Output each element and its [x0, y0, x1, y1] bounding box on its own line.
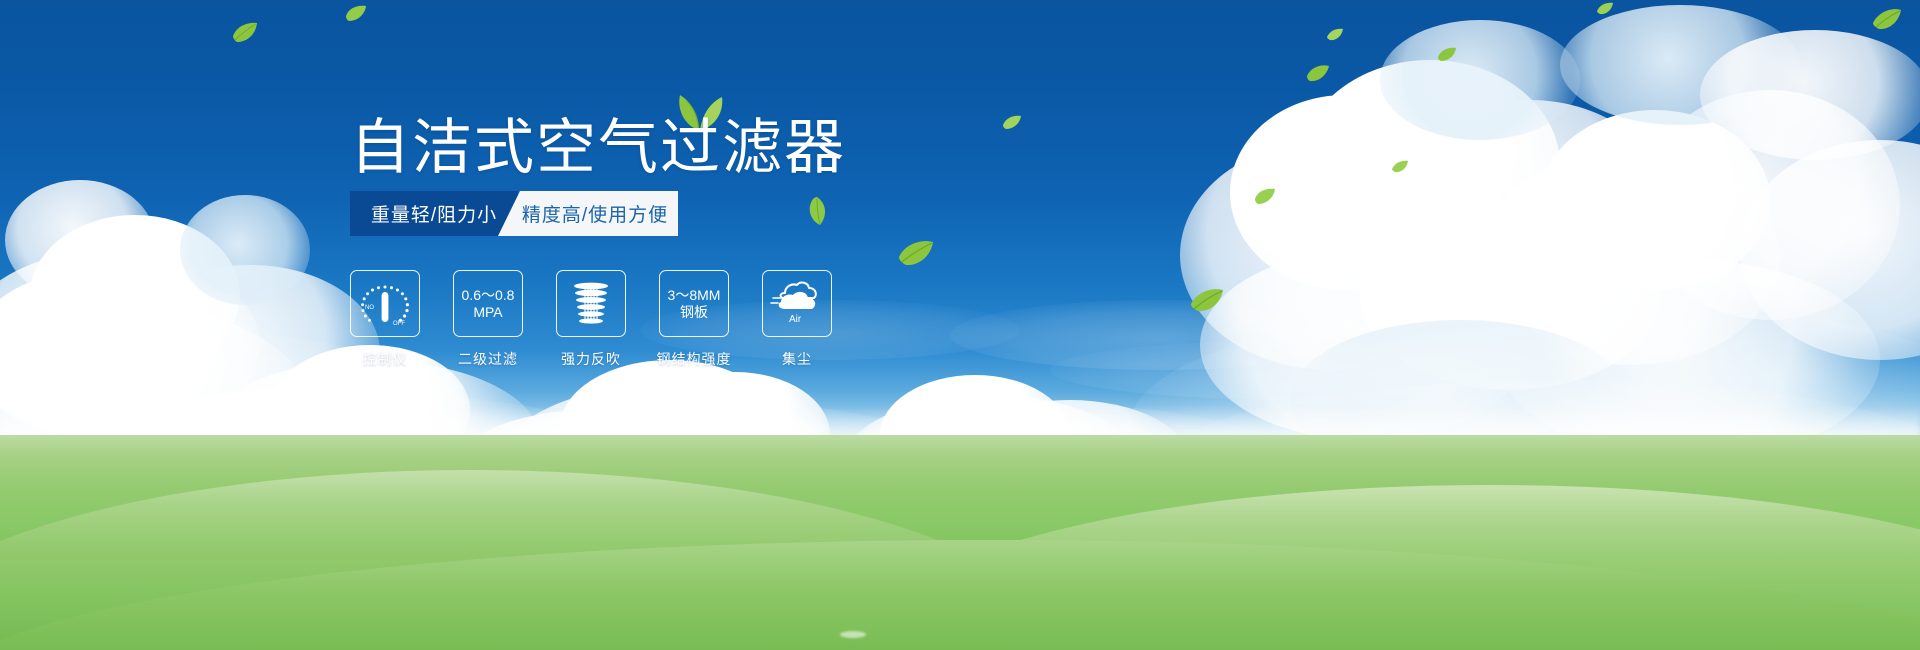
pressure-text-line2: MPA [473, 304, 502, 320]
steel-text-line2: 钢板 [680, 304, 708, 320]
feature-box: 3～8MM 钢板 [659, 270, 729, 337]
svg-text:NO: NO [365, 305, 374, 311]
page-title: 自洁式空气过滤器 [350, 118, 846, 178]
feature-box: 0.6～0.8 MPA [453, 270, 523, 337]
feature-icon-row: NO OFF 控制仪 0.6～0.8 MPA 二级过滤 [350, 270, 832, 369]
steel-text-line1: 3～8MM [668, 287, 721, 303]
badge-label: 精度高/使用方便 [522, 200, 668, 227]
blowback-coil-icon [563, 279, 619, 329]
feature-box: Air [762, 270, 832, 337]
feature-label: 强力反吹 [561, 349, 621, 369]
hero-banner: 自洁式空气过滤器 重量轻/阻力小 精度高/使用方便 [0, 0, 1920, 650]
feature-box [556, 270, 626, 337]
banner-content: 自洁式空气过滤器 重量轻/阻力小 精度高/使用方便 [0, 0, 1920, 650]
svg-text:OFF: OFF [393, 321, 405, 327]
badge-label: 重量轻/阻力小 [371, 200, 497, 227]
feature-label: 集尘 [782, 349, 812, 369]
feature-box: NO OFF [350, 270, 420, 337]
tagline-badges: 重量轻/阻力小 精度高/使用方便 [350, 191, 678, 236]
feature-item-steel: 3～8MM 钢板 钢结构强度 [659, 270, 729, 369]
feature-item-control: NO OFF 控制仪 [350, 270, 420, 369]
air-cloud-icon: Air [769, 279, 825, 329]
feature-item-filtration: 0.6～0.8 MPA 二级过滤 [453, 270, 523, 369]
badge-precision: 精度高/使用方便 [498, 191, 678, 236]
pressure-text-line1: 0.6～0.8 [462, 287, 515, 303]
feature-item-blowback: 强力反吹 [556, 270, 626, 369]
feature-item-dust: Air 集尘 [762, 270, 832, 369]
dial-gauge-icon: NO OFF [357, 279, 413, 329]
feature-label: 二级过滤 [458, 349, 518, 369]
feature-label: 钢结构强度 [657, 349, 732, 369]
feature-label: 控制仪 [363, 349, 408, 369]
badge-lightweight: 重量轻/阻力小 [350, 191, 518, 236]
svg-text:Air: Air [789, 314, 802, 325]
